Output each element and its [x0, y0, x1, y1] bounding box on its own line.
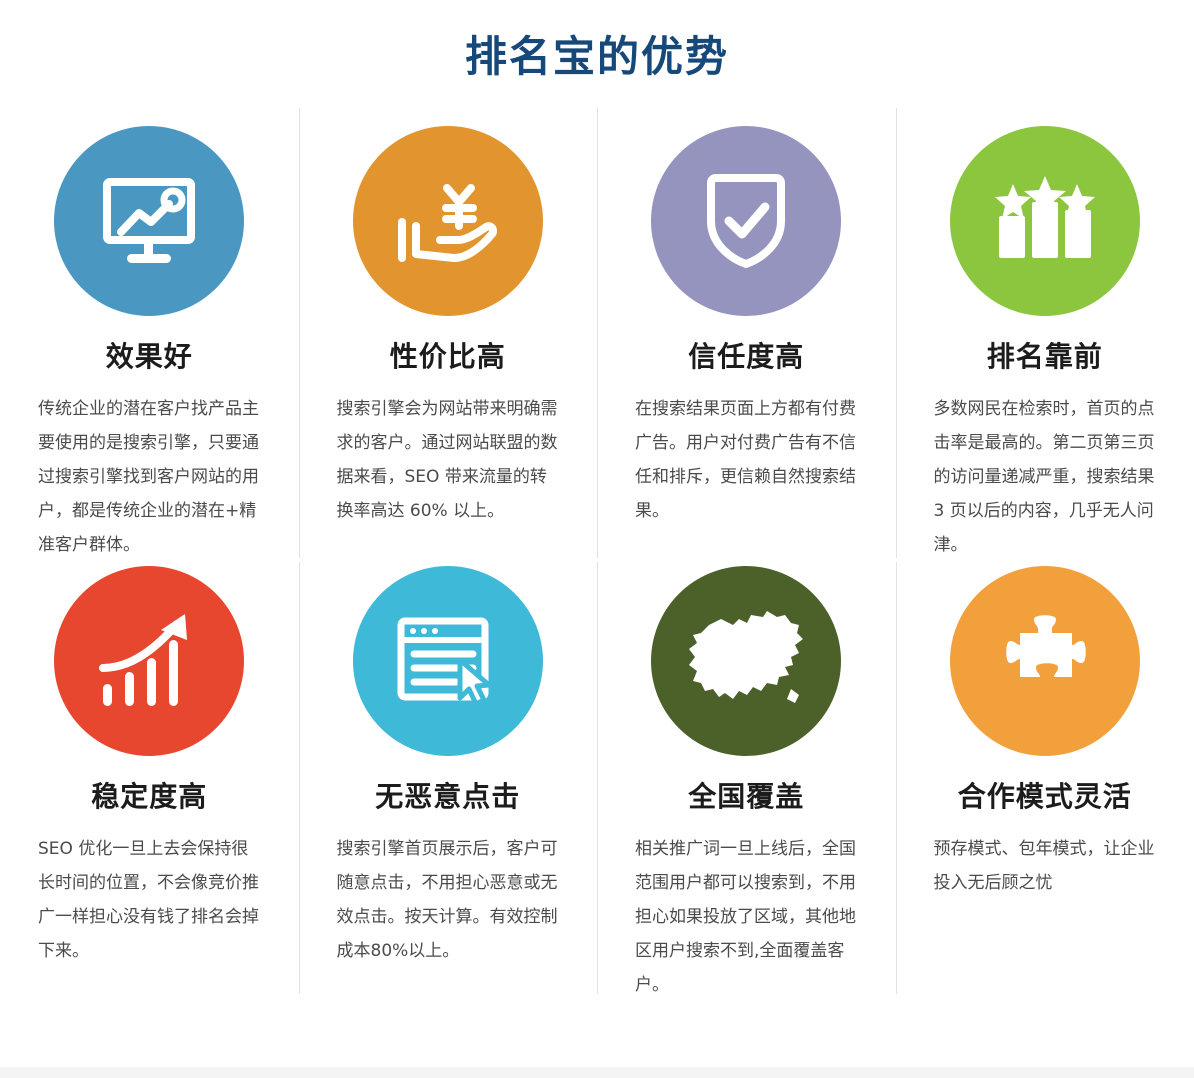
card-description: 传统企业的潜在客户找产品主要使用的是搜索引擎，只要通过搜索引擎找到客户网站的用户…	[38, 392, 261, 562]
advantage-card-stability[interactable]: 稳定度高 SEO 优化一旦上去会保持很长时间的位置，不会像竞价推广一样担心没有钱…	[0, 566, 299, 1016]
card-description: SEO 优化一旦上去会保持很长时间的位置，不会像竞价推广一样担心没有钱了排名会掉…	[38, 832, 261, 968]
advantage-row-2: 稳定度高 SEO 优化一旦上去会保持很长时间的位置，不会像竞价推广一样担心没有钱…	[0, 566, 1194, 1016]
card-title: 信任度高	[688, 340, 804, 374]
card-title: 全国覆盖	[688, 780, 804, 814]
icon-circle-no-malicious-click	[353, 566, 543, 756]
card-title: 性价比高	[390, 340, 506, 374]
advantage-card-flexible-cooperation[interactable]: 合作模式灵活 预存模式、包年模式，让企业投入无后顾之忧	[896, 566, 1194, 1016]
icon-circle-flexible-cooperation	[950, 566, 1140, 756]
bottom-strip	[0, 1067, 1194, 1078]
card-description: 预存模式、包年模式，让企业投入无后顾之忧	[934, 832, 1157, 900]
growth-arrow-bars-icon	[99, 612, 199, 710]
icon-circle-nationwide	[651, 566, 841, 756]
card-title: 排名靠前	[987, 340, 1103, 374]
browser-cursor-icon	[396, 616, 500, 706]
podium-stars-icon	[995, 176, 1095, 266]
card-title: 无恶意点击	[375, 780, 520, 814]
icon-circle-trust	[651, 126, 841, 316]
icon-circle-value	[353, 126, 543, 316]
monitor-chart-icon	[101, 177, 197, 265]
page-title: 排名宝的优势	[0, 0, 1194, 78]
advantage-grid: 效果好 传统企业的潜在客户找产品主要使用的是搜索引擎，只要通过搜索引擎找到客户网…	[0, 126, 1194, 1016]
card-title: 稳定度高	[91, 780, 207, 814]
advantage-card-nationwide[interactable]: 全国覆盖 相关推广词一旦上线后，全国范围用户都可以搜索到，不用担心如果投放了区域…	[597, 566, 896, 1016]
card-description: 搜索引擎会为网站带来明确需求的客户。通过网站联盟的数据来看，SEO 带来流量的转…	[337, 392, 560, 528]
advantage-card-effect[interactable]: 效果好 传统企业的潜在客户找产品主要使用的是搜索引擎，只要通过搜索引擎找到客户网…	[0, 126, 299, 566]
advantage-row-1: 效果好 传统企业的潜在客户找产品主要使用的是搜索引擎，只要通过搜索引擎找到客户网…	[0, 126, 1194, 566]
card-description: 搜索引擎首页展示后，客户可随意点击，不用担心恶意或无效点击。按天计算。有效控制成…	[337, 832, 560, 968]
advantage-card-no-malicious-click[interactable]: 无恶意点击 搜索引擎首页展示后，客户可随意点击，不用担心恶意或无效点击。按天计算…	[299, 566, 598, 1016]
shield-check-icon	[703, 173, 789, 269]
hand-yuan-icon	[396, 176, 500, 266]
card-description: 在搜索结果页面上方都有付费广告。用户对付费广告有不信任和排斥，更信赖自然搜索结果…	[635, 392, 858, 528]
icon-circle-ranking	[950, 126, 1140, 316]
card-title: 效果好	[106, 340, 193, 374]
icon-circle-stability	[54, 566, 244, 756]
puzzle-piece-icon	[998, 615, 1092, 707]
card-description: 相关推广词一旦上线后，全国范围用户都可以搜索到，不用担心如果投放了区域，其他地区…	[635, 832, 858, 1002]
advantages-page: 排名宝的优势 效果好 传统	[0, 0, 1194, 1078]
advantage-card-trust[interactable]: 信任度高 在搜索结果页面上方都有付费广告。用户对付费广告有不信任和排斥，更信赖自…	[597, 126, 896, 566]
advantage-card-ranking[interactable]: 排名靠前 多数网民在检索时，首页的点击率是最高的。第二页第三页的访问量递减严重，…	[896, 126, 1194, 566]
card-description: 多数网民在检索时，首页的点击率是最高的。第二页第三页的访问量递减严重，搜索结果 …	[934, 392, 1157, 562]
advantage-card-value[interactable]: 性价比高 搜索引擎会为网站带来明确需求的客户。通过网站联盟的数据来看，SEO 带…	[299, 126, 598, 566]
china-map-icon	[681, 607, 811, 715]
card-title: 合作模式灵活	[958, 780, 1132, 814]
icon-circle-effect	[54, 126, 244, 316]
